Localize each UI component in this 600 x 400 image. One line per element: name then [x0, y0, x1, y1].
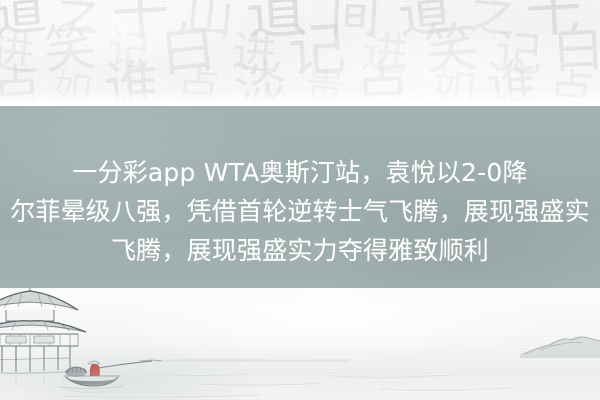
calligraphy-paper-band: 道 之 千 山 道 间 道 之 千 进 笑 记 白 进 记 进 笑 记 白 点 …	[0, 0, 600, 106]
mist-overlay	[0, 288, 600, 400]
caption-line-3: 飞腾，展现强盛实力夺得雅致顺利	[0, 231, 600, 270]
caption-line-1: 一分彩app WTA奥斯汀站，袁悅以2-0降	[0, 153, 600, 192]
news-caption-overlay: 一分彩app WTA奥斯汀站，袁悅以2-0降 尔菲晕级八强，凭借首轮逆转士气飞腾…	[0, 153, 600, 270]
caption-line-2: 尔菲晕级八强，凭借首轮逆转士气飞腾，展现强盛实	[0, 192, 600, 231]
paper-bottom-fade	[0, 90, 600, 106]
ink-wash-lake-scene	[0, 288, 600, 400]
caption-band: 一分彩app WTA奥斯汀站，袁悅以2-0降 尔菲晕级八强，凭借首轮逆转士气飞腾…	[0, 106, 600, 288]
article-header-image: 道 之 千 山 道 间 道 之 千 进 笑 记 白 进 记 进 笑 记 白 点 …	[0, 0, 600, 400]
